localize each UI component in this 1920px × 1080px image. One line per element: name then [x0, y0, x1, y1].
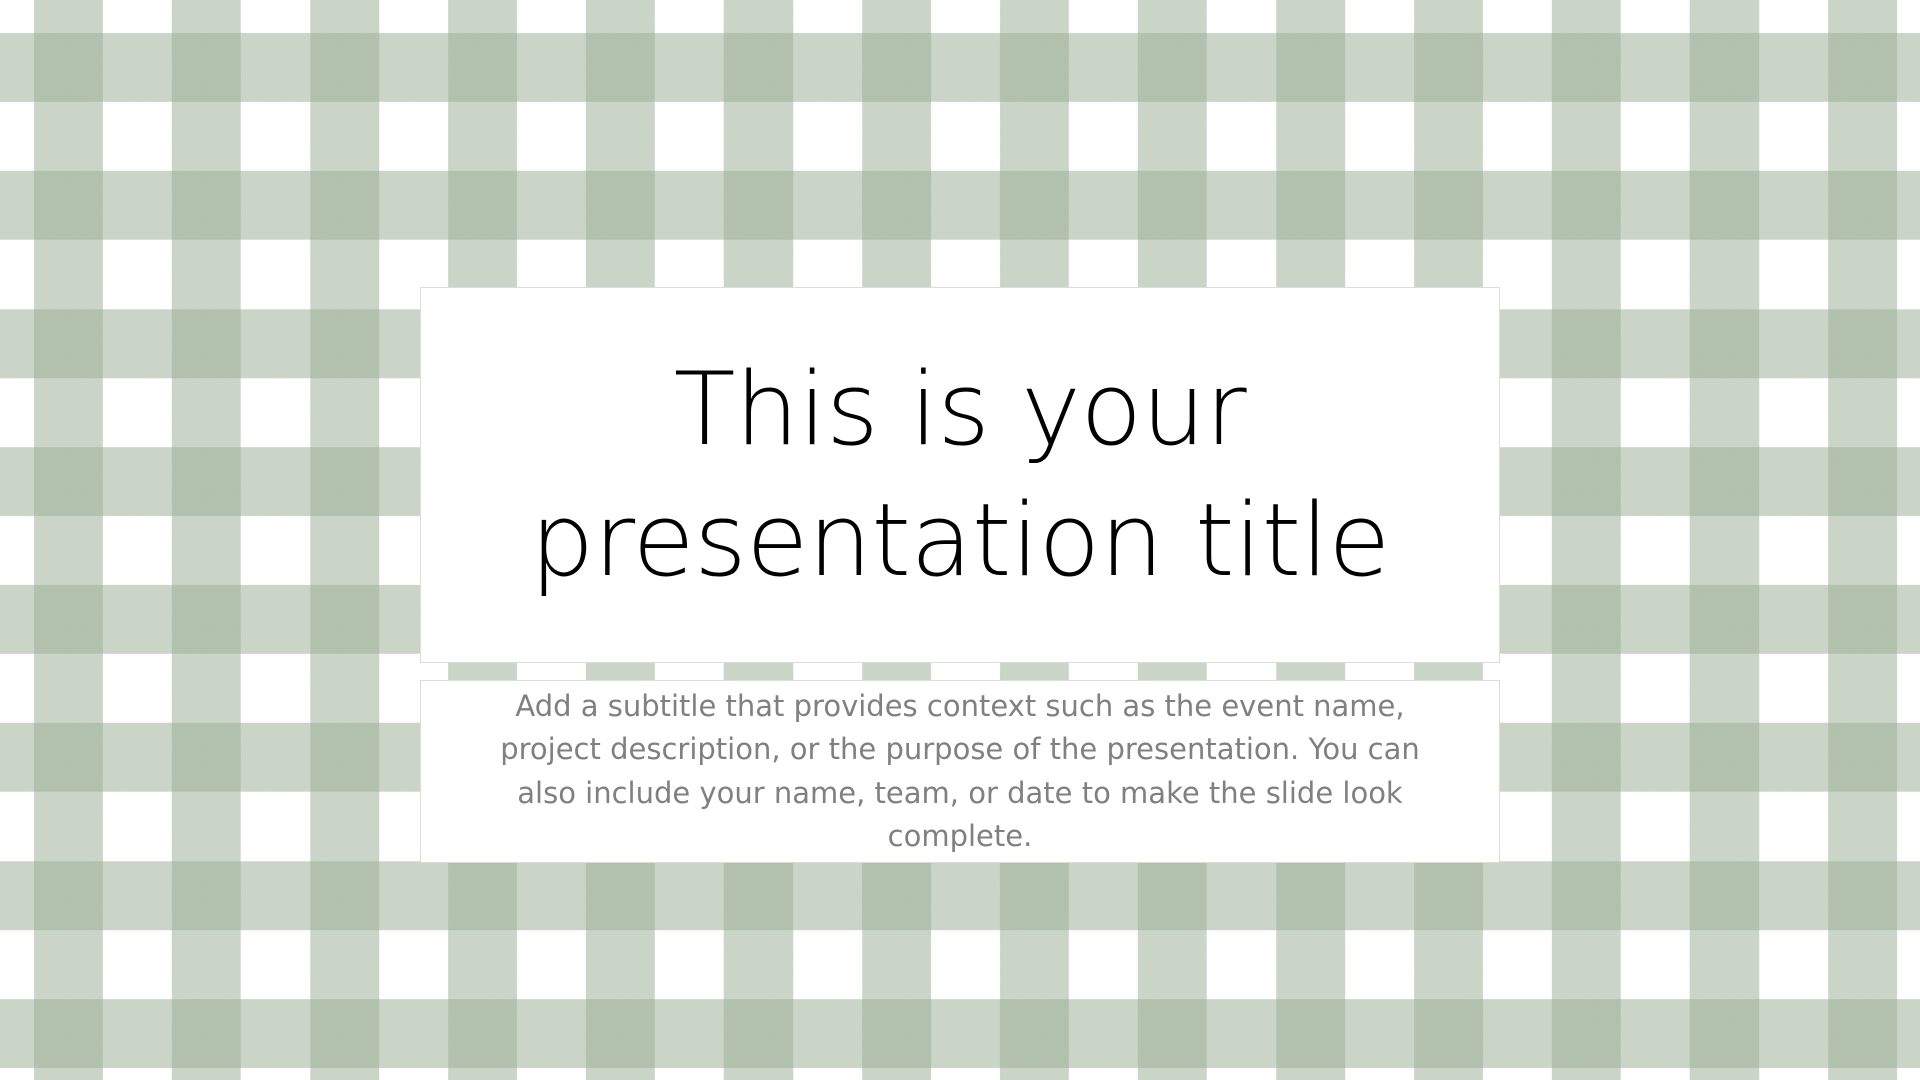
slide-subtitle[interactable]: Add a subtitle that provides context suc…	[470, 685, 1450, 859]
slide-title[interactable]: This is your presentation title	[447, 344, 1473, 607]
title-placeholder-card[interactable]: This is your presentation title	[421, 288, 1499, 662]
presentation-slide: This is your presentation title Add a su…	[0, 0, 1920, 1080]
subtitle-placeholder-card[interactable]: Add a subtitle that provides context suc…	[421, 681, 1499, 862]
